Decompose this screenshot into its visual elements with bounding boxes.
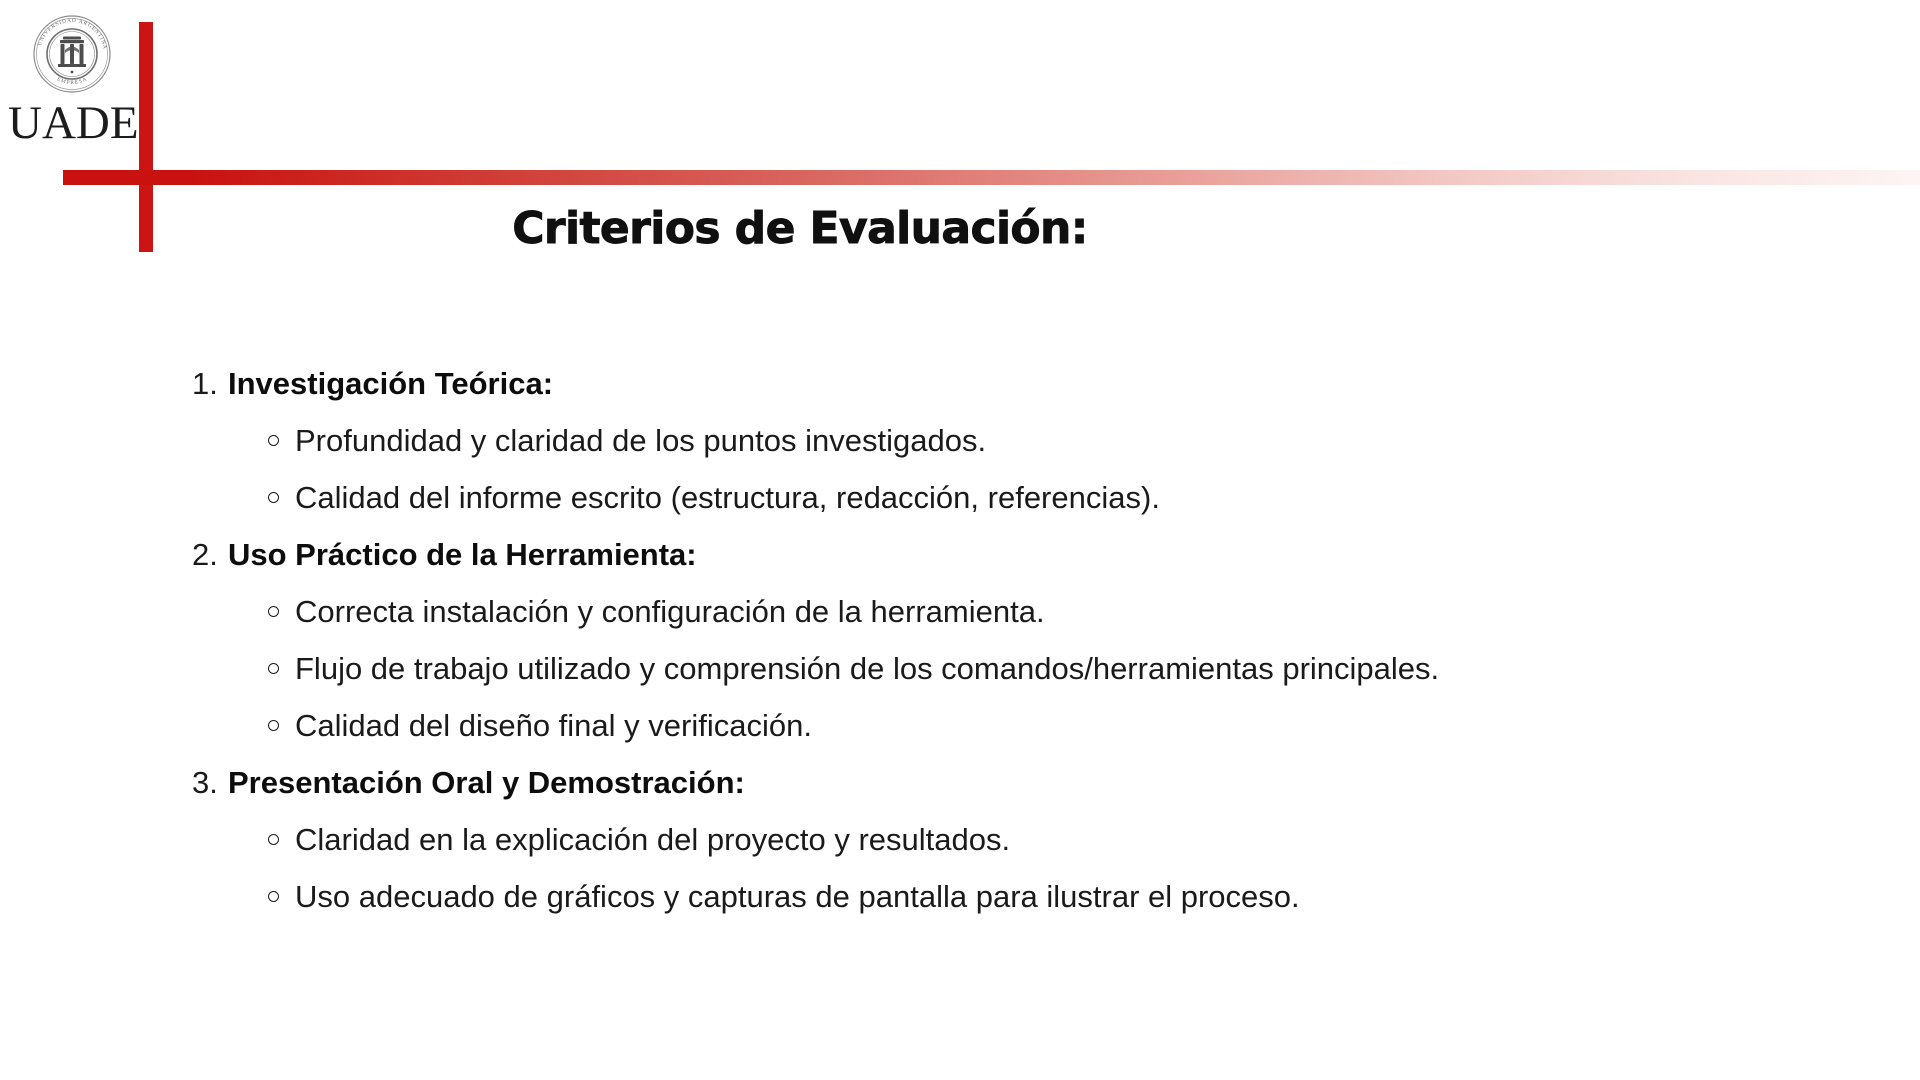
criteria-list: 1. Investigación Teórica: Profundidad y … (150, 355, 1890, 925)
sub-list-item-label: Flujo de trabajo utilizado y comprensión… (295, 651, 1439, 686)
university-seal-icon: UNIVERSIDAD ARGENTINA DE LA EMPRESA (24, 6, 120, 102)
sub-list-item: Calidad del diseño final y verificación. (150, 697, 1890, 754)
sub-list-item-label: Calidad del informe escrito (estructura,… (295, 480, 1160, 515)
uade-wordmark: UADE (8, 100, 136, 147)
list-item: 2. Uso Práctico de la Herramienta: (150, 526, 1890, 583)
list-item-label: Investigación Teórica: (228, 366, 553, 401)
sub-list-item: Uso adecuado de gráficos y capturas de p… (150, 868, 1890, 925)
list-item: 3. Presentación Oral y Demostración: (150, 754, 1890, 811)
sub-list-item: Profundidad y claridad de los puntos inv… (150, 412, 1890, 469)
list-number: 1. (192, 355, 218, 412)
sub-list-item-label: Profundidad y claridad de los puntos inv… (295, 423, 986, 458)
page-title: Criterios de Evaluación: (0, 206, 1600, 252)
sub-list-item: Correcta instalación y configuración de … (150, 583, 1890, 640)
sub-list-item-label: Claridad en la explicación del proyecto … (295, 822, 1010, 857)
hollow-bullet-icon (268, 435, 279, 446)
sub-list-item: Calidad del informe escrito (estructura,… (150, 469, 1890, 526)
uade-logo: UNIVERSIDAD ARGENTINA DE LA EMPRESA UADE (8, 4, 136, 154)
svg-text:EMPRESA: EMPRESA (56, 76, 89, 86)
slide-canvas: UNIVERSIDAD ARGENTINA DE LA EMPRESA UADE (0, 0, 1920, 1080)
sub-list-item: Claridad en la explicación del proyecto … (150, 811, 1890, 868)
hollow-bullet-icon (268, 663, 279, 674)
list-item-label: Uso Práctico de la Herramienta: (228, 537, 697, 572)
horizontal-accent-rule (63, 170, 1920, 185)
hollow-bullet-icon (268, 606, 279, 617)
sub-list-item-label: Correcta instalación y configuración de … (295, 594, 1045, 629)
sub-list-item-label: Calidad del diseño final y verificación. (295, 708, 812, 743)
hollow-bullet-icon (268, 492, 279, 503)
sub-list-item-label: Uso adecuado de gráficos y capturas de p… (295, 879, 1300, 914)
list-number: 2. (192, 526, 218, 583)
hollow-bullet-icon (268, 834, 279, 845)
list-item-label: Presentación Oral y Demostración: (228, 765, 745, 800)
hollow-bullet-icon (268, 891, 279, 902)
list-item: 1. Investigación Teórica: (150, 355, 1890, 412)
list-number: 3. (192, 754, 218, 811)
sub-list-item: Flujo de trabajo utilizado y comprensión… (150, 640, 1890, 697)
hollow-bullet-icon (268, 720, 279, 731)
